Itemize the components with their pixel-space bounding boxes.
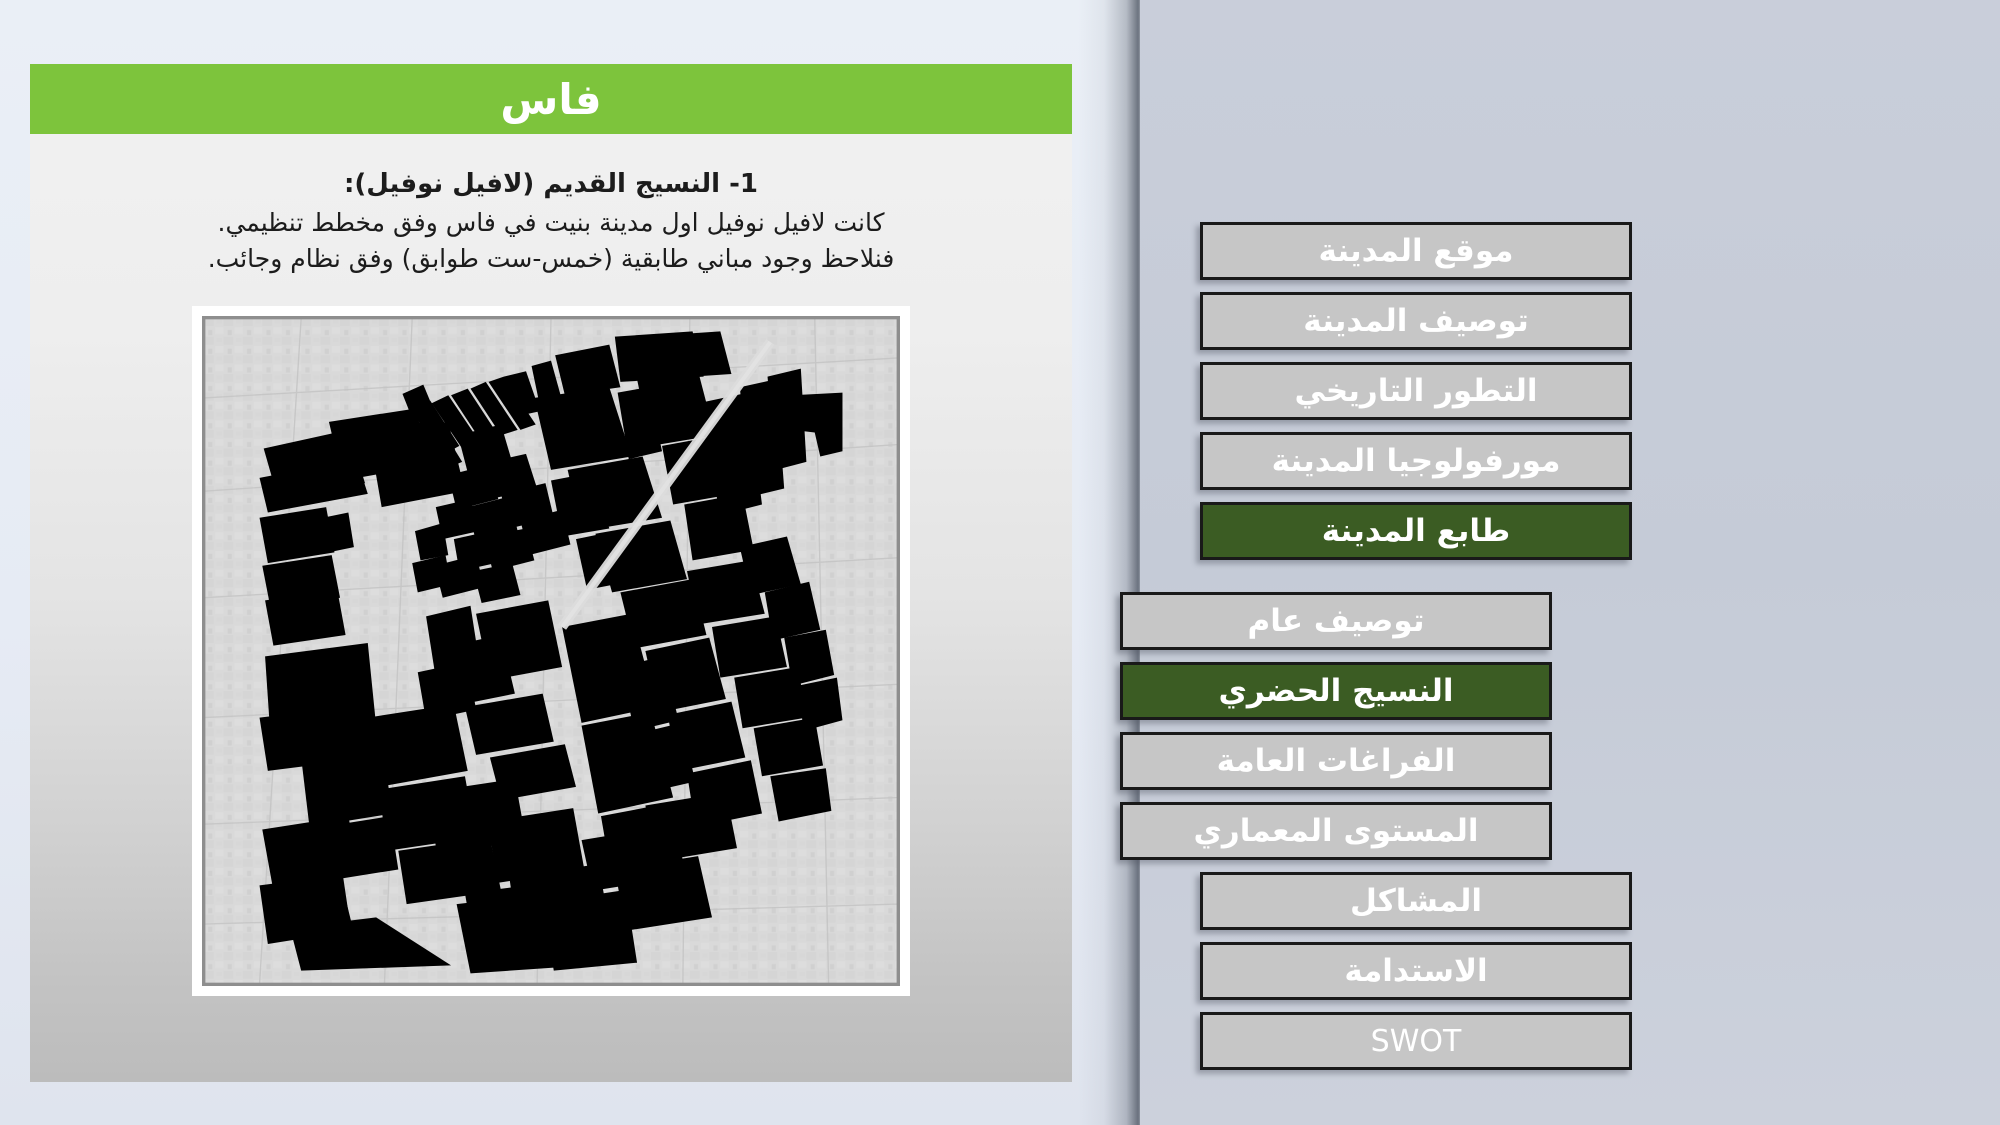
sidebar-item-sub-nav-2[interactable]: الفراغات العامة	[1120, 732, 1552, 790]
sidebar-item-main-nav-3[interactable]: مورفولوجيا المدينة	[1200, 432, 1632, 490]
slide-header-bar: فاس	[30, 64, 1072, 134]
body-paragraph-line-2: فنلاحظ وجود مباني طابقية (خمس-ست طوابق) …	[90, 241, 1012, 278]
section-heading: 1- النسيج القديم (لافيل نوفيل):	[90, 166, 1012, 203]
sidebar-item-sub-nav-1[interactable]: النسيج الحضري	[1120, 662, 1552, 720]
sidebar-item-end-nav-2[interactable]: SWOT	[1200, 1012, 1632, 1070]
sidebar-item-end-nav-1[interactable]: الاستدامة	[1200, 942, 1632, 1000]
sidebar-item-main-nav-4[interactable]: طابع المدينة	[1200, 502, 1632, 560]
slide-content-panel: فاس 1- النسيج القديم (لافيل نوفيل): كانت…	[30, 64, 1072, 1082]
sidebar-item-sub-nav-0[interactable]: توصيف عام	[1120, 592, 1552, 650]
sidebar-item-main-nav-1[interactable]: توصيف المدينة	[1200, 292, 1632, 350]
sidebar-item-main-nav-2[interactable]: التطور التاريخي	[1200, 362, 1632, 420]
sidebar-item-end-nav-0[interactable]: المشاكل	[1200, 872, 1632, 930]
panel-shadow	[1078, 0, 1140, 1125]
body-paragraph-line-1: كانت لافيل نوفيل اول مدينة بنيت في فاس و…	[90, 205, 1012, 242]
nav-group-sub: توصيف عامالنسيج الحضريالفراغات العامةالم…	[1120, 592, 1552, 872]
navigation-sidebar: موقع المدينةتوصيف المدينةالتطور التاريخي…	[1140, 0, 2000, 1125]
sidebar-item-main-nav-0[interactable]: موقع المدينة	[1200, 222, 1632, 280]
urban-fabric-figure-ground-map	[202, 316, 900, 986]
body-text-block: 1- النسيج القديم (لافيل نوفيل): كانت لاف…	[30, 166, 1072, 278]
slide-body: 1- النسيج القديم (لافيل نوفيل): كانت لاف…	[30, 134, 1072, 1082]
page-title: فاس	[500, 75, 601, 124]
sidebar-item-sub-nav-3[interactable]: المستوى المعماري	[1120, 802, 1552, 860]
nav-group-end: المشاكلالاستدامةSWOT	[1200, 872, 1632, 1082]
figure-frame	[192, 306, 910, 996]
nav-group-main: موقع المدينةتوصيف المدينةالتطور التاريخي…	[1200, 222, 1632, 572]
